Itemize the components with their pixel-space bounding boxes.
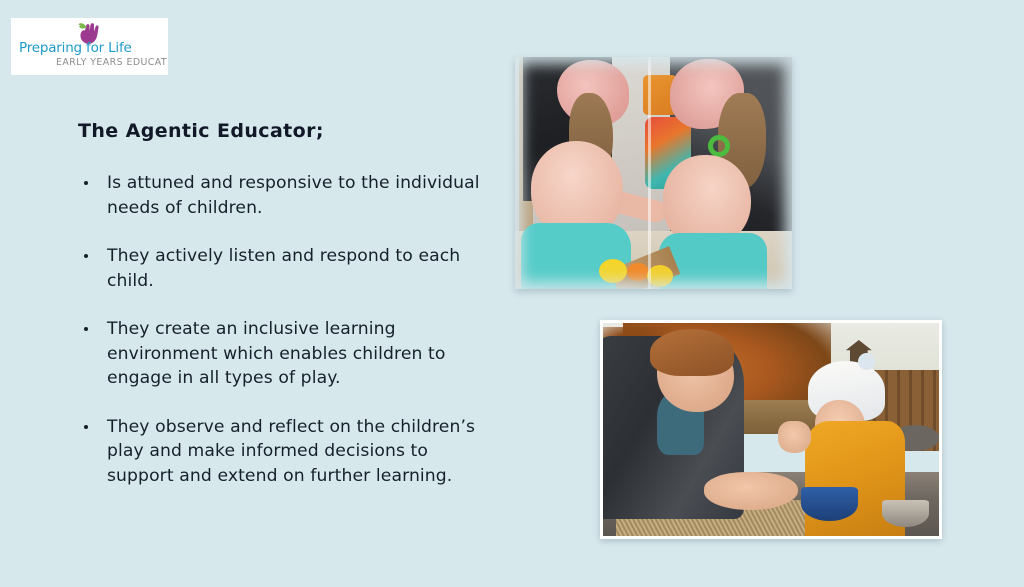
list-item: They actively listen and respond to each… <box>78 244 498 293</box>
photo-baby-mirror-play <box>515 57 792 289</box>
preparing-for-life-logo: Preparing for Life EARLY YEARS EDUCATION <box>11 18 168 75</box>
logo-subtitle: EARLY YEARS EDUCATION <box>56 57 168 68</box>
list-item: They observe and reflect on the children… <box>78 415 498 489</box>
photo-outdoor-seed-play <box>600 320 942 539</box>
slide-canvas: Preparing for Life EARLY YEARS EDUCATION… <box>0 0 1024 587</box>
content-text-block: The Agentic Educator; Is attuned and res… <box>78 120 498 488</box>
bullet-list: Is attuned and responsive to the individ… <box>78 171 498 488</box>
page-title: The Agentic Educator; <box>78 120 498 142</box>
list-item: Is attuned and responsive to the individ… <box>78 171 498 220</box>
list-item: They create an inclusive learning enviro… <box>78 317 498 391</box>
logo-title: Preparing for Life <box>19 40 132 56</box>
